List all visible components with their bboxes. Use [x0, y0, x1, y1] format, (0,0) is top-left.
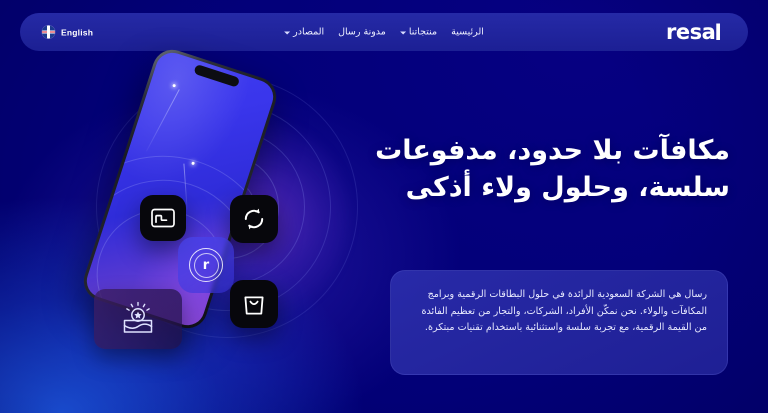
- nav-links: الرئيسية منتجاتنا مدونة رسال المصادر: [284, 27, 484, 38]
- uk-flag-icon: [42, 26, 55, 39]
- sync-refresh-icon: [241, 206, 267, 232]
- nav-link-home-label: الرئيسية: [451, 27, 484, 38]
- nav-link-home[interactable]: الرئيسية: [451, 27, 484, 38]
- brand-logo-tail: l: [715, 21, 722, 45]
- shopping-bag-icon: [242, 292, 266, 317]
- nav-link-resources[interactable]: المصادر: [284, 27, 324, 38]
- gift-card-icon-tile[interactable]: [140, 195, 186, 241]
- language-switcher-label: English: [61, 27, 93, 37]
- nav-link-blog[interactable]: مدونة رسال: [338, 27, 386, 38]
- hero-description-text: رسال هي الشركة السعودية الرائدة في حلول …: [411, 287, 707, 337]
- badge-outer-ring: r: [189, 248, 223, 282]
- page-title: مكافآت بلا حدود، مدفوعات سلسة، وحلول ولا…: [330, 132, 730, 207]
- hero-visual: r: [58, 48, 378, 403]
- nav-link-products-label: منتجاتنا: [409, 27, 437, 38]
- reward-star-icon-tile[interactable]: [94, 289, 182, 349]
- hero-text-block: مكافآت بلا حدود، مدفوعات سلسة، وحلول ولا…: [330, 132, 730, 207]
- hero-description-card: رسال هي الشركة السعودية الرائدة في حلول …: [390, 270, 728, 375]
- badge-letter: r: [194, 253, 219, 278]
- language-switcher[interactable]: English: [42, 26, 93, 39]
- shopping-bag-icon-tile[interactable]: [230, 280, 278, 328]
- sync-refresh-icon-tile[interactable]: [230, 195, 278, 243]
- gift-card-icon: [150, 207, 176, 229]
- chevron-down-icon: [284, 32, 290, 35]
- center-brand-badge: r: [178, 237, 234, 293]
- chevron-down-icon: [400, 32, 406, 35]
- nav-link-blog-label: مدونة رسال: [338, 27, 386, 38]
- brand-logo-text: resa: [666, 20, 715, 44]
- nav-link-products[interactable]: منتجاتنا: [400, 27, 437, 38]
- hero-page: English الرئيسية منتجاتنا مدونة رسال الم…: [0, 0, 768, 413]
- nav-link-resources-label: المصادر: [293, 27, 324, 38]
- brand-logo[interactable]: resal: [666, 20, 722, 44]
- top-navigation-bar: English الرئيسية منتجاتنا مدونة رسال الم…: [20, 13, 748, 51]
- reward-star-icon: [119, 301, 157, 337]
